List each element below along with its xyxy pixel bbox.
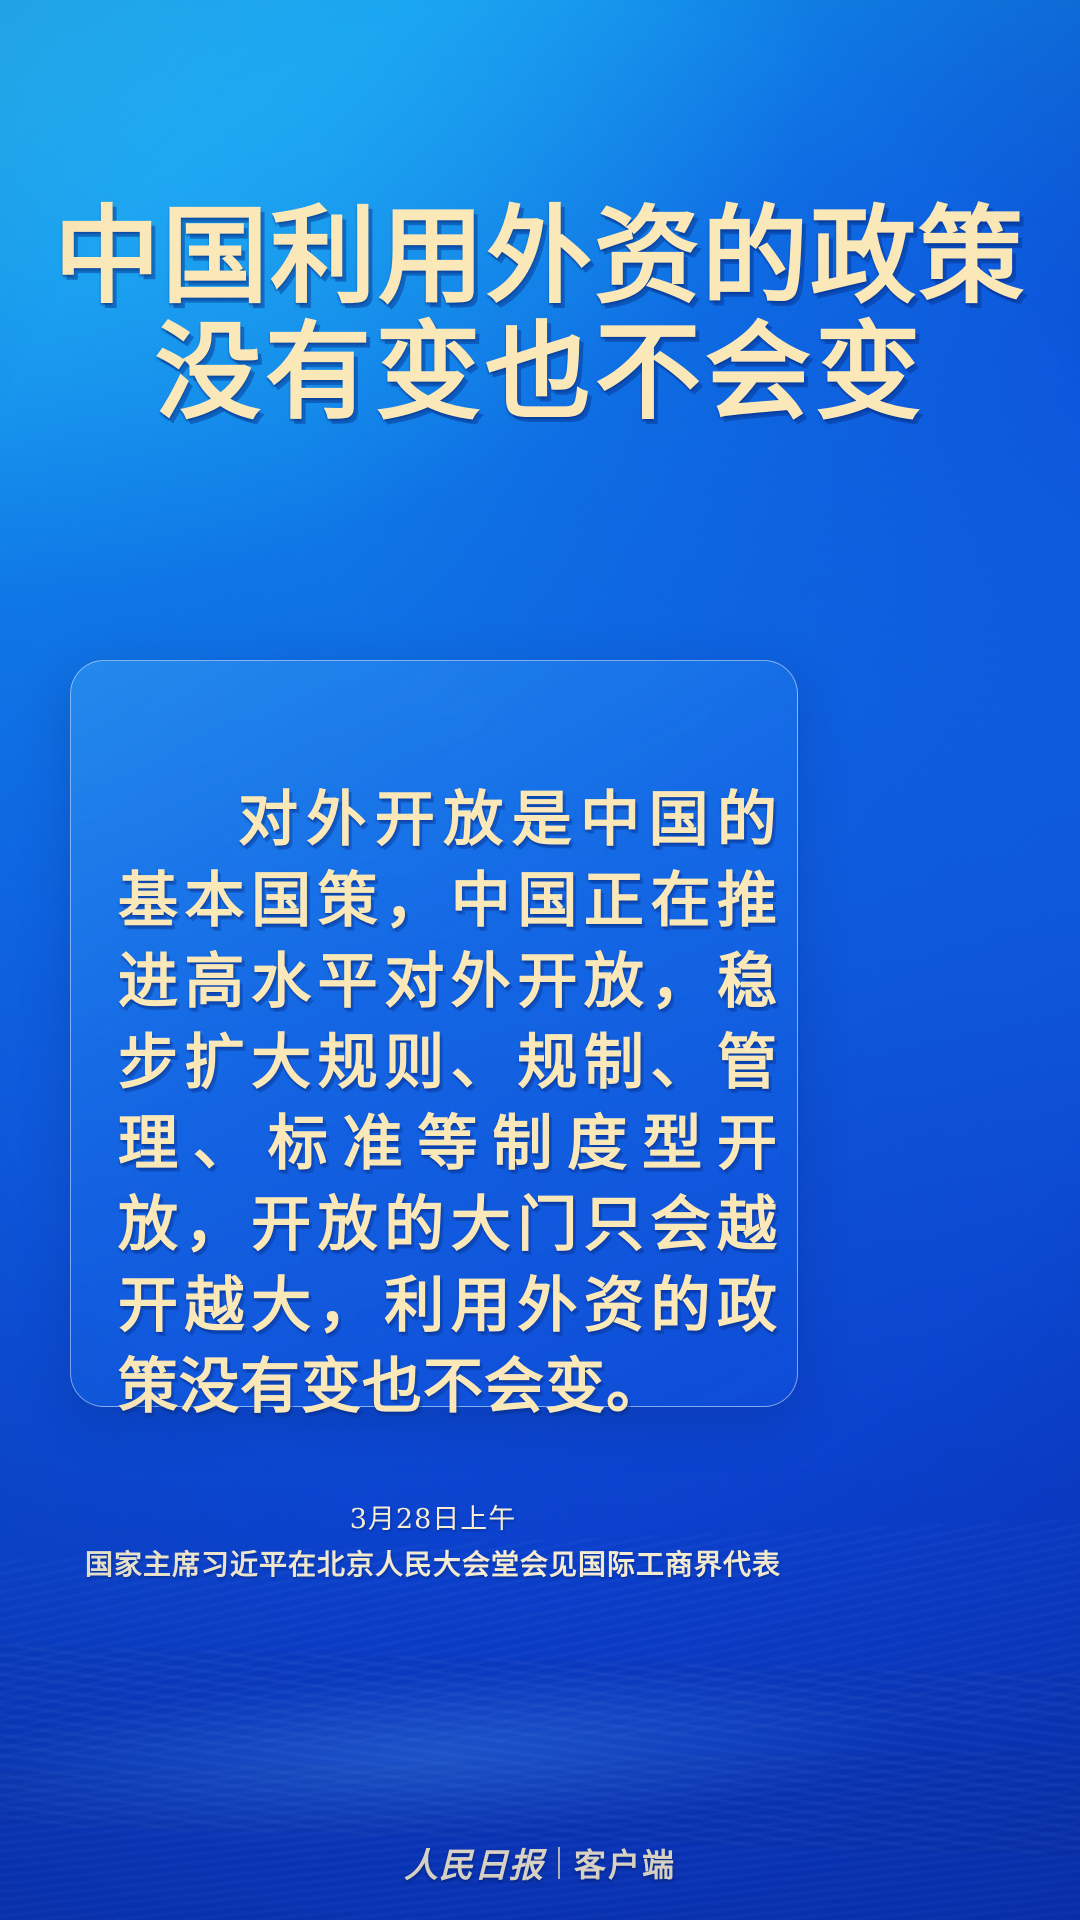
silk-wave-band-2	[0, 1642, 1080, 1858]
divider	[558, 1847, 560, 1879]
brand-name: 人民日报	[404, 1838, 544, 1887]
footer-logo: 人民日报 客户端	[0, 1838, 1080, 1887]
headline-line-1: 中国利用外资的政策	[0, 198, 1080, 314]
product-name: 客户端	[574, 1840, 676, 1886]
attribution-date: 3月28日上午	[70, 1498, 796, 1542]
headline-line-2: 没有变也不会变	[0, 314, 1080, 430]
silk-wave-band-3	[0, 1746, 1080, 1920]
attribution-event: 国家主席习近平在北京人民大会堂会见国际工商界代表	[70, 1542, 796, 1588]
quote-text: 对外开放是中国的基本国策，中国正在推进高水平对外开放，稳步扩大规则、规制、管理、…	[118, 780, 778, 1428]
attribution: 3月28日上午 国家主席习近平在北京人民大会堂会见国际工商界代表	[70, 1498, 796, 1588]
page-title: 中国利用外资的政策 没有变也不会变	[0, 198, 1080, 430]
poster-root: 中国利用外资的政策 没有变也不会变 对外开放是中国的基本国策，中国正在推进高水平…	[0, 0, 1080, 1920]
